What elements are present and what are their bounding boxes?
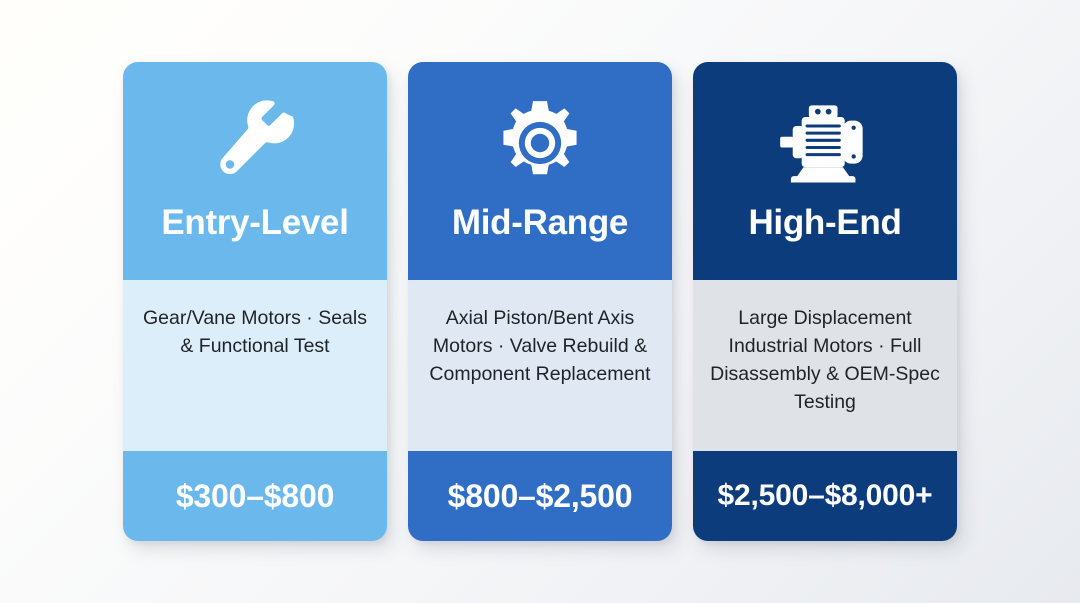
card-body-mid-range: Axial Piston/Bent Axis Motors · Valve Re… (408, 280, 672, 451)
wrench-icon (209, 95, 301, 191)
card-price-mid-range: $800–$2,500 (408, 451, 672, 541)
card-body-entry-level: Gear/Vane Motors · Seals & Functional Te… (123, 280, 387, 451)
card-body-high-end: Large Displacement Industrial Motors · F… (693, 280, 957, 451)
gear-icon (494, 95, 586, 191)
card-header-mid-range: Mid-Range (408, 62, 672, 280)
card-header-high-end: High-End (693, 62, 957, 280)
card-price-high-end: $2,500–$8,000+ (693, 451, 957, 541)
pricing-tier-card-row: Entry-Level Gear/Vane Motors · Seals & F… (0, 0, 1080, 603)
card-description: Large Displacement Industrial Motors · F… (710, 304, 940, 416)
pricing-card-high-end[interactable]: High-End Large Displacement Industrial M… (693, 62, 957, 541)
card-header-entry-level: Entry-Level (123, 62, 387, 280)
pricing-card-mid-range[interactable]: Mid-Range Axial Piston/Bent Axis Motors … (408, 62, 672, 541)
card-description: Gear/Vane Motors · Seals & Functional Te… (140, 304, 370, 360)
electric-motor-icon (773, 95, 877, 191)
card-title: Mid-Range (452, 205, 628, 240)
pricing-card-entry-level[interactable]: Entry-Level Gear/Vane Motors · Seals & F… (123, 62, 387, 541)
card-description: Axial Piston/Bent Axis Motors · Valve Re… (425, 304, 655, 388)
card-price-entry-level: $300–$800 (123, 451, 387, 541)
card-title: High-End (748, 205, 901, 240)
card-title: Entry-Level (161, 205, 348, 240)
